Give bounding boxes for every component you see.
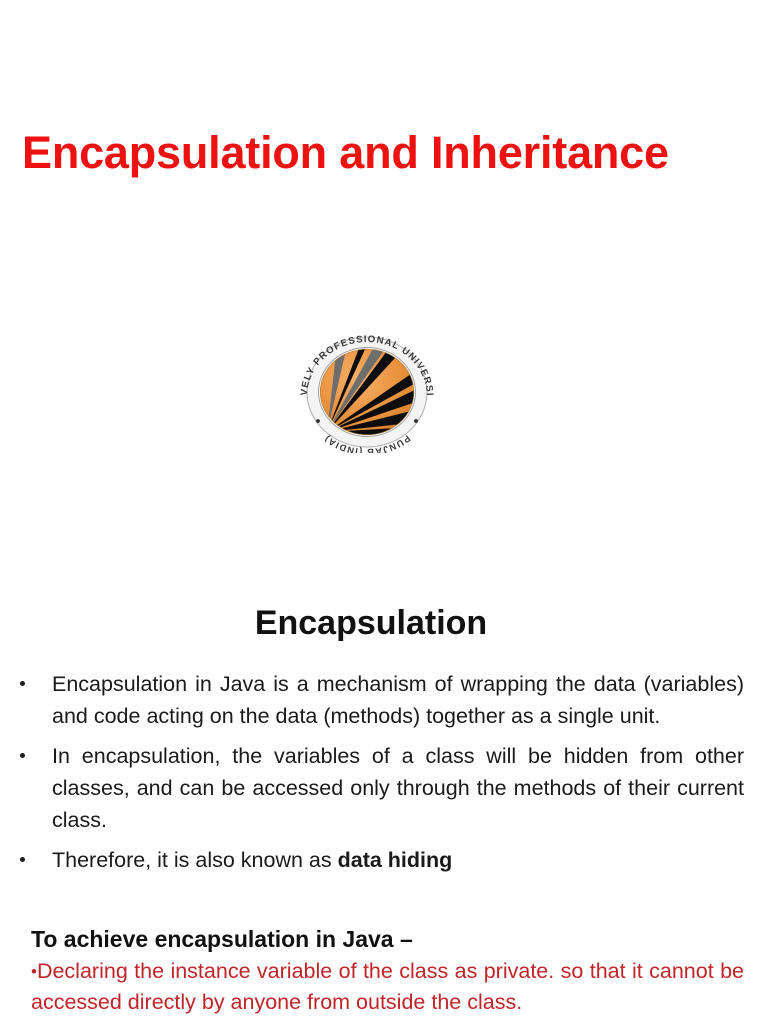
list-item-emphasis: data hiding [338, 848, 453, 872]
slide-canvas: Encapsulation and Inheritance L [0, 0, 768, 1024]
red-note-text: Declaring the instance variable of the c… [31, 959, 744, 1014]
red-note: •Declaring the instance variable of the … [31, 956, 744, 1018]
page-title: Encapsulation and Inheritance [22, 128, 748, 178]
list-item-text: Therefore, it is also known as [52, 848, 338, 872]
bullet-list: Encapsulation in Java is a mechanism of … [12, 668, 744, 884]
achieve-heading: To achieve encapsulation in Java – [31, 925, 413, 955]
list-item: In encapsulation, the variables of a cla… [12, 740, 744, 836]
university-logo: LOVELY PROFESSIONAL UNIVERSITY PUNJAB (I… [291, 331, 443, 453]
list-item: Encapsulation in Java is a mechanism of … [12, 668, 744, 732]
list-item: Therefore, it is also known as data hidi… [12, 844, 744, 876]
section-heading: Encapsulation [0, 604, 742, 643]
